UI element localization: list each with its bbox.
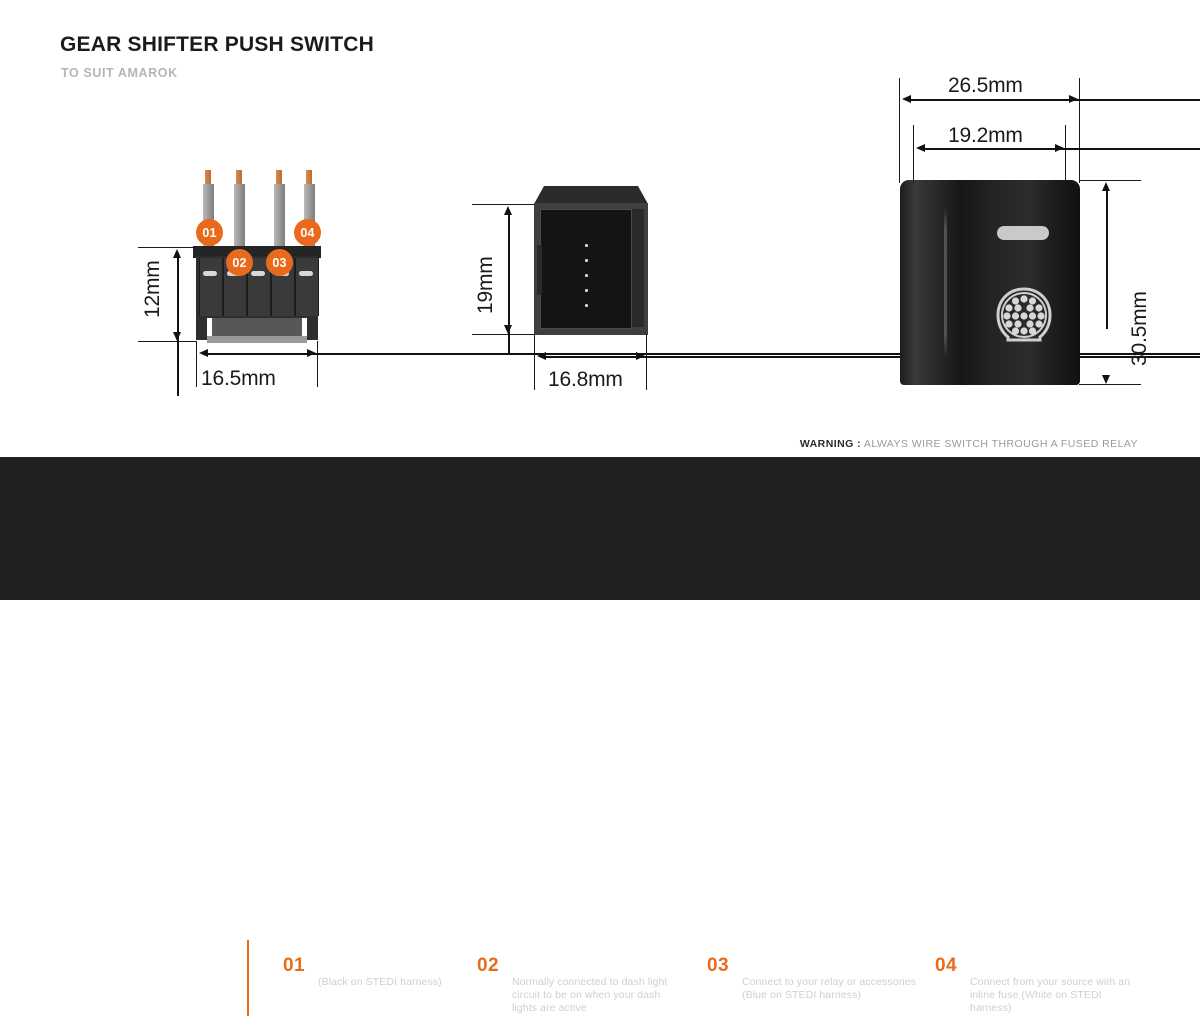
extension-line [1065, 125, 1066, 183]
switch-front-body [900, 180, 1080, 385]
wiring-point-title: RELAY [742, 957, 788, 972]
wiring-point-description: Normally connected to dash light circuit… [512, 976, 677, 1015]
dimension-arrow-height [1102, 182, 1111, 384]
extension-line [1079, 384, 1141, 385]
extension-line [913, 125, 914, 183]
switch-indicator-bar [997, 226, 1049, 240]
wiring-points-bar: WIRING POINTS 01 EARTH / GROUND (Black o… [0, 457, 1200, 600]
extension-line [1079, 78, 1080, 183]
warning-text: ALWAYS WIRE SWITCH THROUGH A FUSED RELAY [864, 438, 1138, 450]
wiring-point-title: DASH LIGHTS ON [512, 957, 632, 972]
diagram-canvas: GEAR SHIFTER PUSH SWITCH TO SUIT AMAROK [0, 0, 1200, 600]
wiring-points-heading: WIRING POINTS [67, 972, 220, 994]
wiring-point-description: (Black on STEDI harness) [318, 976, 468, 989]
wiring-point-title: EARTH / GROUND [318, 957, 441, 972]
dimension-label-front-height: 30.5mm [1128, 291, 1152, 366]
wiring-point-number: 02 [477, 955, 499, 977]
wiring-point-number: 04 [935, 955, 957, 977]
bar-divider [247, 940, 249, 1016]
wiring-point-number: 03 [707, 955, 729, 977]
extension-line [899, 78, 900, 183]
wiring-point-description: Connect from your source with an inline … [970, 976, 1142, 1015]
wiring-point-description: Connect to your relay or accessories (Bl… [742, 976, 922, 1002]
warning-label: WARNING : [800, 438, 861, 450]
dimension-label-outer-width: 26.5mm [948, 74, 1023, 98]
wiring-point-title: SOURCE [970, 957, 1030, 972]
switch-groove [944, 208, 947, 356]
switch-front-view: 26.5mm 19.2mm 30.5mm [0, 0, 1200, 440]
wiring-point-number: 01 [283, 955, 305, 977]
dimension-label-inner-width: 19.2mm [948, 124, 1023, 148]
warning-note: WARNING : ALWAYS WIRE SWITCH THROUGH A F… [800, 438, 1138, 450]
gear-shifter-knob-icon [995, 287, 1053, 345]
